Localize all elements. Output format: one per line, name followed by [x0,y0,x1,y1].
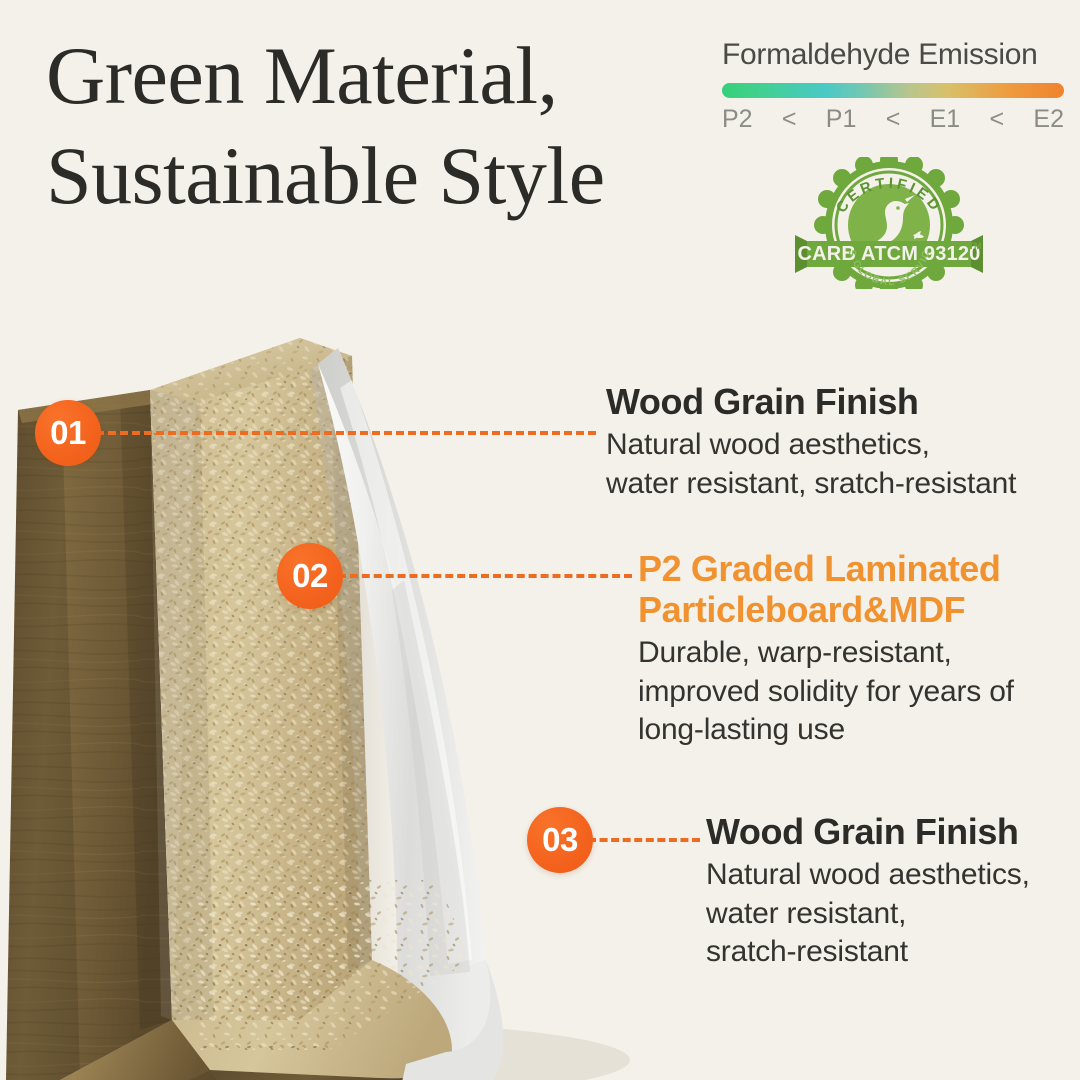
connector-line-03 [588,838,700,842]
callout-description-02: Durable, warp-resistant, improved solidi… [638,634,1068,749]
emission-gradient-bar [722,83,1064,98]
callout-desc-03-line-1: Natural wood aesthetics, [706,856,1076,894]
connector-line-01 [96,431,596,435]
headline-line-1: Green Material, [46,26,746,126]
callout-desc-01-line-1: Natural wood aesthetics, [606,426,1076,464]
callout-block-02: P2 Graded Laminated Particleboard&MDF Du… [638,549,1068,750]
callout-title-02: P2 Graded Laminated Particleboard&MDF [638,549,1068,630]
emission-label-p2: P2 [722,105,753,134]
emission-separator-1: < [782,105,797,134]
headline-line-2: Sustainable Style [46,126,746,226]
callout-description-03: Natural wood aesthetics, water resistant… [706,856,1076,971]
callout-desc-03-line-3: sratch-resistant [706,933,1076,971]
callout-title-03: Wood Grain Finish [706,812,1076,852]
emission-scale-title: Formaldehyde Emission [722,38,1064,71]
emission-separator-2: < [886,105,901,134]
callout-desc-03-line-2: water resistant, [706,895,1076,933]
page-title: Green Material, Sustainable Style [46,26,746,226]
callout-desc-02-line-1: Durable, warp-resistant, [638,634,1068,672]
callout-title-01: Wood Grain Finish [606,382,1076,422]
callout-block-03: Wood Grain Finish Natural wood aesthetic… [706,812,1076,971]
callout-number-badge-02[interactable]: 02 [277,543,343,609]
connector-line-02 [338,574,632,578]
callout-number-badge-03[interactable]: 03 [527,807,593,873]
badge-banner-text: CARB ATCM 93120 [797,243,980,265]
emission-scale-labels: P2 < P1 < E1 < E2 [722,105,1064,134]
callout-block-01: Wood Grain Finish Natural wood aesthetic… [606,382,1076,503]
callout-desc-02-line-2: improved solidity for years of [638,673,1068,711]
callout-desc-01-line-2: water resistant, sratch-resistant [606,465,1076,503]
emission-label-p1: P1 [826,105,857,134]
callout-number-badge-01[interactable]: 01 [35,400,101,466]
badge-trademark-text: TM [969,241,982,251]
layered-board-product-image [0,260,700,1080]
carb-certification-badge: CERTIFIED CARB ATCM 93120 TM SCS GLOBAL … [793,157,985,289]
formaldehyde-emission-scale: Formaldehyde Emission P2 < P1 < E1 < E2 [722,38,1064,134]
emission-separator-3: < [989,105,1004,134]
emission-label-e1: E1 [930,105,961,134]
callout-desc-02-line-3: long-lasting use [638,711,1068,749]
callout-description-01: Natural wood aesthetics, water resistant… [606,426,1076,503]
emission-label-e2: E2 [1033,105,1064,134]
